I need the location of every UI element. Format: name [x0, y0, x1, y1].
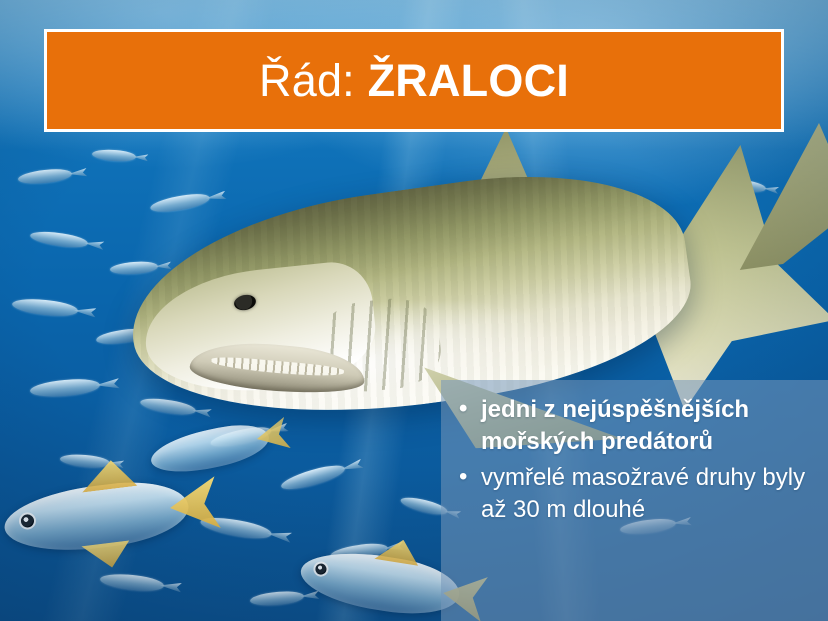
list-item: vymřelé masožravé druhy byly až 30 m dlo…: [455, 462, 816, 526]
slide: Řád: ŽRALOCI jedni z nejúspěšnějších moř…: [0, 0, 828, 621]
title-bar: Řád: ŽRALOCI: [44, 29, 784, 132]
bullet-panel: jedni z nejúspěšnějších mořských predáto…: [441, 380, 828, 621]
title-prefix: Řád:: [259, 55, 368, 106]
title-emphasis: ŽRALOCI: [368, 55, 569, 106]
list-item: jedni z nejúspěšnějších mořských predáto…: [455, 394, 816, 458]
page-title: Řád: ŽRALOCI: [259, 58, 569, 103]
bullet-list: jedni z nejúspěšnějších mořských predáto…: [455, 394, 816, 526]
